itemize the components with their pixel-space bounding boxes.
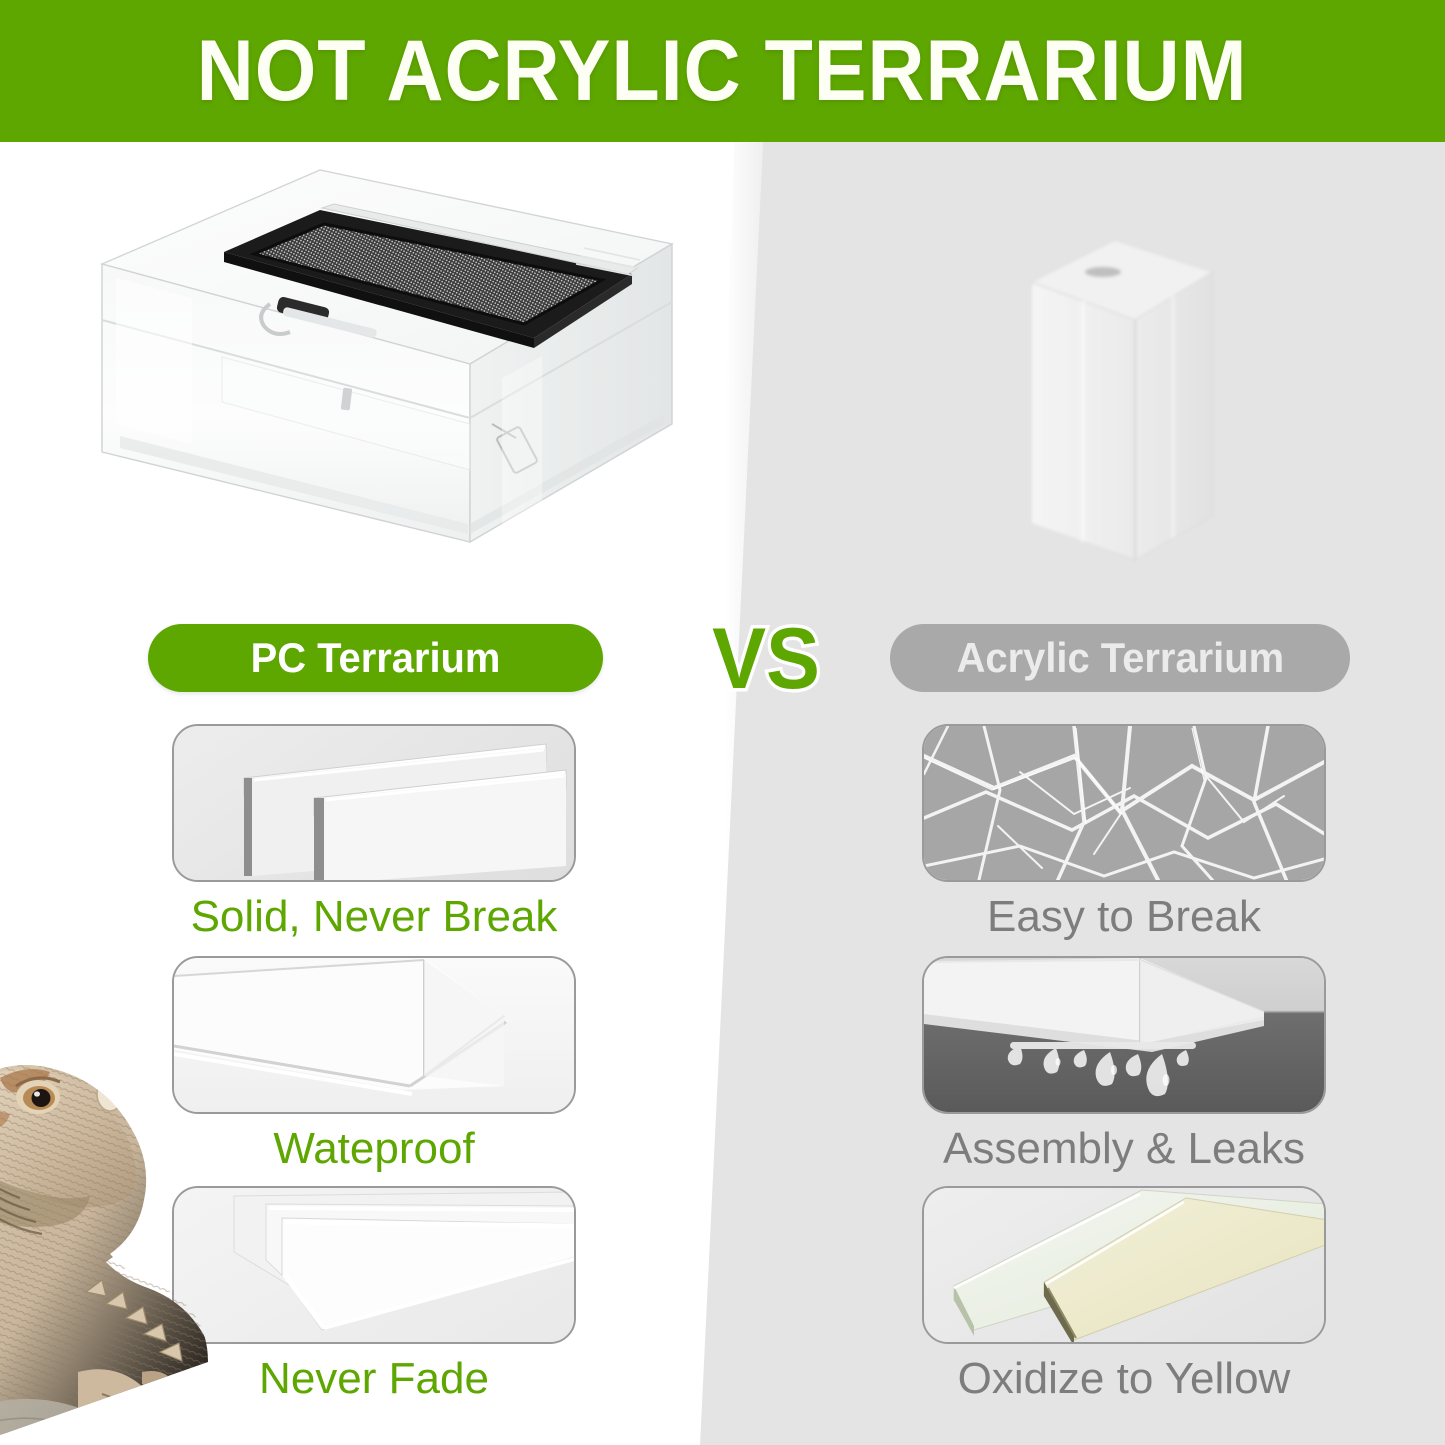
page-title: NOT ACRYLIC TERRARIUM [197, 22, 1248, 121]
feature-label: Assembly & Leaks [922, 1126, 1326, 1172]
pill-acrylic-terrarium[interactable]: Acrylic Terrarium [890, 624, 1350, 692]
cracked-glass-icon [924, 726, 1326, 882]
vs-label: VS [691, 610, 841, 709]
pill-pc-terrarium[interactable]: PC Terrarium [148, 624, 603, 692]
feature-label: Oxidize to Yellow [922, 1356, 1326, 1402]
feature-acrylic-oxidize: Oxidize to Yellow [922, 1186, 1326, 1402]
feature-acrylic-leaks: Assembly & Leaks [922, 956, 1326, 1172]
acrylic-terrarium-product-image [995, 230, 1240, 590]
feature-card-image [922, 1186, 1326, 1344]
feature-acrylic-break: Easy to Break [922, 724, 1326, 940]
feature-pc-never-fade: Never Fade [172, 1186, 576, 1402]
feature-card-image [172, 724, 576, 882]
pc-terrarium-product-image [72, 152, 712, 602]
feature-label: Never Fade [172, 1356, 576, 1402]
yellowed-panels-icon [924, 1188, 1326, 1344]
clear-panels-icon [174, 1188, 576, 1344]
seamless-corner-icon [174, 958, 576, 1114]
comparison-header-row: PC Terrarium VS Acrylic Terrarium [0, 608, 1445, 720]
leaking-seam-icon [924, 958, 1326, 1114]
infographic-canvas: NOT ACRYLIC TERRARIUM [0, 0, 1445, 1445]
pill-pc-label: PC Terrarium [251, 634, 501, 682]
header-banner: NOT ACRYLIC TERRARIUM [0, 0, 1445, 142]
bearded-dragon-image [0, 1042, 232, 1445]
feature-card-image [922, 956, 1326, 1114]
feature-label: Easy to Break [922, 894, 1326, 940]
feature-card-image [922, 724, 1326, 882]
feature-card-image [172, 1186, 576, 1344]
feature-card-image [172, 956, 576, 1114]
feature-label: Wateproof [172, 1126, 576, 1172]
feature-label: Solid, Never Break [172, 894, 576, 940]
feature-pc-solid: Solid, Never Break [172, 724, 576, 940]
pc-sheets-icon [174, 726, 576, 882]
feature-pc-waterproof: Wateproof [172, 956, 576, 1172]
pill-acrylic-label: Acrylic Terrarium [956, 634, 1283, 682]
